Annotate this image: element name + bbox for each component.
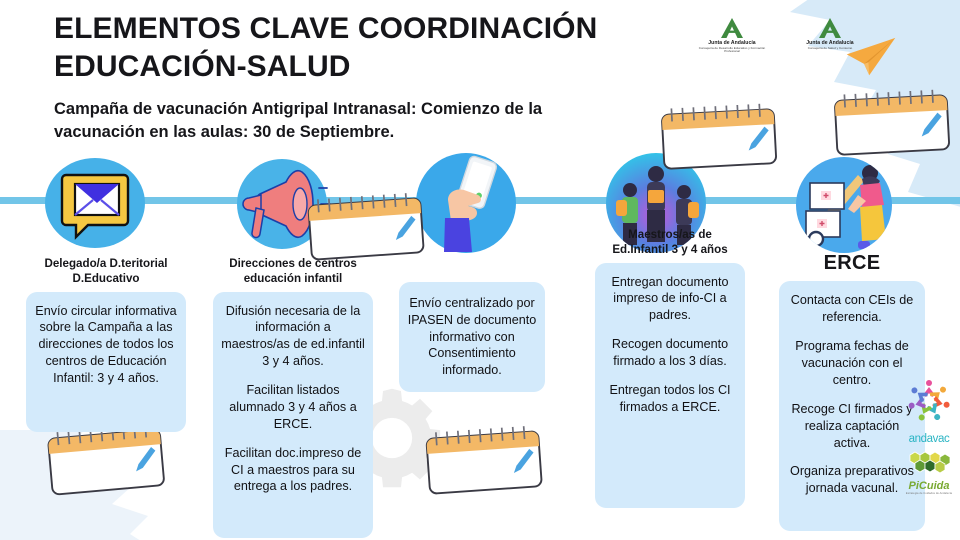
notepad-3 bbox=[420, 420, 548, 502]
column-5-paragraph-1: Contacta con CEIs de referencia. bbox=[787, 292, 917, 326]
column-1-heading: Delegado/a D.teritorial D.Educativo bbox=[26, 256, 186, 287]
column-5-heading: ERCE bbox=[779, 250, 925, 276]
column-1-card: Envío circular informativa sobre la Camp… bbox=[26, 292, 186, 432]
column-2-heading: Direcciones de centros educación infanti… bbox=[213, 256, 373, 287]
partner-logos: andavac PiCuida Estrategia de Cuidados d… bbox=[902, 378, 956, 499]
institution-logos: Junta de Andalucía Consejería de Desarro… bbox=[695, 18, 867, 54]
timeline-node-5 bbox=[788, 155, 900, 255]
picuida-tagline: Estrategia de Cuidados de Andalucía bbox=[902, 492, 956, 495]
column-4-paragraph-2: Recogen documento firmado a los 3 días. bbox=[603, 336, 737, 370]
column-2: Direcciones de centros educación infanti… bbox=[213, 256, 373, 538]
picuida-logo: PiCuida Estrategia de Cuidados de Andalu… bbox=[902, 449, 956, 495]
junta-logo-subtitle: Consejería de Desarrollo Educativo y For… bbox=[695, 47, 769, 55]
page-subtitle: Campaña de vacunación Antigripal Intrana… bbox=[54, 98, 624, 145]
infographic-canvas: ELEMENTOS CLAVE COORDINACIÓN EDUCACIÓN-S… bbox=[0, 0, 960, 540]
people-circle-logo bbox=[902, 378, 956, 429]
column-1-paragraph-1: Envío circular informativa sobre la Camp… bbox=[34, 303, 178, 387]
junta-andalucia-a-mark bbox=[721, 18, 743, 38]
envelope-speech-bubble-icon bbox=[42, 158, 152, 250]
column-5-paragraph-3: Recoge CI firmados y realiza captación a… bbox=[787, 401, 917, 452]
spiral-notepad-with-pencil-icon bbox=[420, 420, 548, 502]
page-title-line1: ELEMENTOS CLAVE COORDINACIÓN bbox=[54, 12, 597, 45]
notepad-5 bbox=[828, 84, 956, 164]
column-4-heading-line1: Maestros/as de bbox=[628, 228, 712, 241]
column-1: Delegado/a D.teritorial D.Educativo Enví… bbox=[26, 256, 186, 432]
column-2-card: Difusión necesaria de la información a m… bbox=[213, 292, 373, 538]
timeline-node-1 bbox=[42, 158, 152, 250]
spiral-notepad-with-pencil-icon bbox=[828, 84, 956, 164]
column-4-paragraph-3: Entregan todos los CI firmados a ERCE. bbox=[603, 382, 737, 416]
column-4-paragraph-1: Entregan documento impreso de info-CI a … bbox=[603, 274, 737, 325]
column-3-card: Envío centralizado por IPASEN de documen… bbox=[399, 282, 545, 392]
column-3-paragraph-1: Envío centralizado por IPASEN de documen… bbox=[407, 295, 537, 379]
column-2-paragraph-2: Facilitan listados alumnado 3 y 4 años a… bbox=[221, 382, 365, 433]
column-4-heading: Maestros/as de Ed.Infantil 3 y 4 años bbox=[595, 227, 745, 258]
column-2-heading-line1: Direcciones de centros bbox=[229, 257, 357, 270]
people-circle-logo bbox=[905, 378, 953, 424]
junta-logo-subtitle: Consejería de Salud y Consumo bbox=[793, 47, 867, 51]
column-5-paragraph-4: Organiza preparativos jornada vacunal. bbox=[787, 463, 917, 497]
column-4-heading-line2: Ed.Infantil 3 y 4 años bbox=[612, 243, 727, 256]
column-4: Maestros/as de Ed.Infantil 3 y 4 años En… bbox=[595, 227, 745, 508]
column-1-heading-line2: D.Educativo bbox=[73, 272, 140, 285]
picuida-wordmark: PiCuida bbox=[902, 480, 956, 492]
page-title-line2: EDUCACIÓN-SALUD bbox=[54, 50, 351, 83]
column-3: Envío centralizado por IPASEN de documen… bbox=[399, 282, 545, 392]
column-5-paragraph-2: Programa fechas de vacunación con el cen… bbox=[787, 338, 917, 389]
picuida-hexagons bbox=[907, 449, 951, 475]
column-2-paragraph-3: Facilitan doc.impreso de CI a maestros p… bbox=[221, 445, 365, 496]
andavac-logo: andavac bbox=[902, 433, 956, 445]
delivery-boxes-handtruck-icon bbox=[788, 155, 900, 255]
page-title: ELEMENTOS CLAVE COORDINACIÓN EDUCACIÓN-S… bbox=[54, 10, 654, 87]
andavac-wordmark: andavac bbox=[902, 433, 956, 445]
notepad-4 bbox=[655, 98, 783, 178]
column-4-card: Entregan documento impreso de info-CI a … bbox=[595, 263, 745, 508]
column-1-heading-line1: Delegado/a D.teritorial bbox=[44, 257, 167, 270]
column-2-heading-line2: educación infantil bbox=[244, 272, 343, 285]
junta-andalucia-logo-salud: Junta de Andalucía Consejería de Salud y… bbox=[793, 18, 867, 54]
column-2-paragraph-1: Difusión necesaria de la información a m… bbox=[221, 303, 365, 371]
junta-andalucia-a-mark bbox=[819, 18, 841, 38]
spiral-notepad-with-pencil-icon bbox=[655, 98, 783, 178]
junta-andalucia-logo-educacion: Junta de Andalucía Consejería de Desarro… bbox=[695, 18, 769, 54]
